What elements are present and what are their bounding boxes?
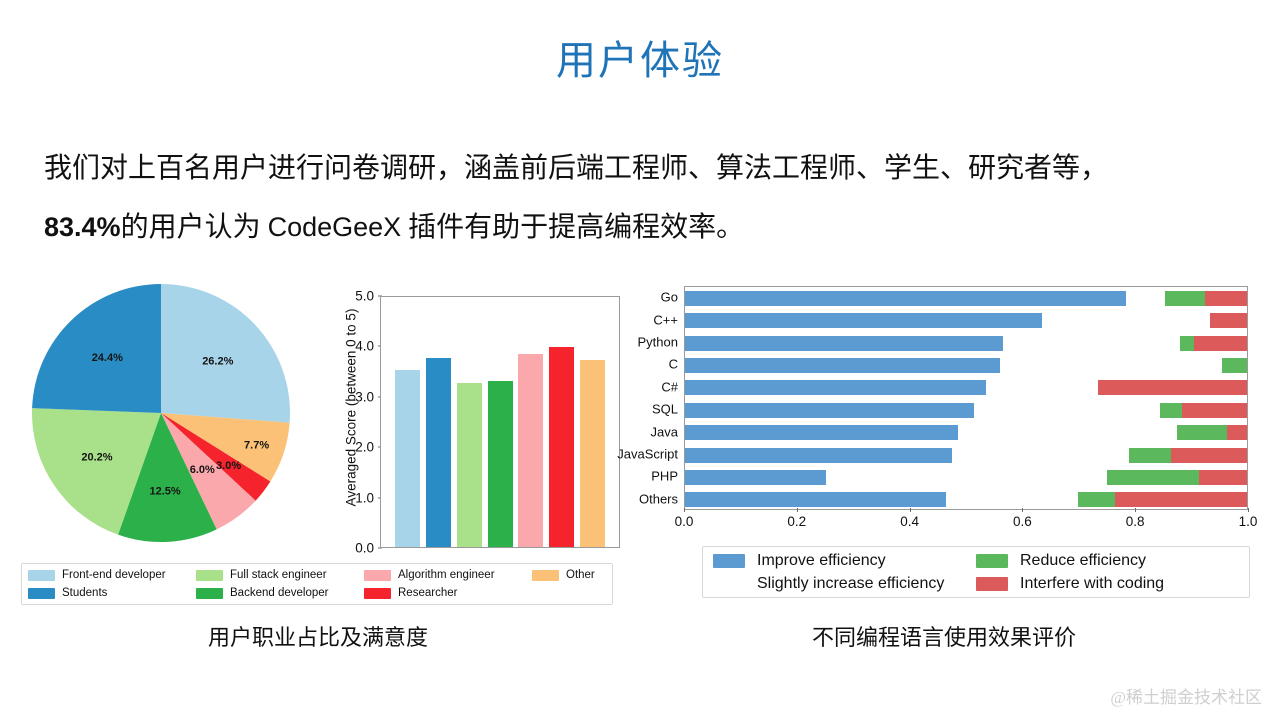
stacked-bar-segment — [685, 313, 1042, 328]
body-line-1: 我们对上百名用户进行问卷调研，涵盖前后端工程师、算法工程师、学生、研究者等， — [44, 153, 1108, 184]
legend-item: Researcher — [364, 587, 532, 599]
caption-right: 不同编程语言使用效果评价 — [744, 620, 1144, 652]
y-axis-tick-label: 2.0 — [355, 440, 374, 455]
stacked-bar-segment — [685, 380, 986, 395]
y-axis-tick-label: 3.0 — [355, 389, 374, 404]
bar — [580, 360, 605, 548]
stacked-bar-segment — [1042, 313, 1211, 328]
legend-swatch-icon — [976, 577, 1008, 591]
x-axis-tick-label: 0.2 — [787, 514, 806, 529]
stacked-bar-segment — [1171, 448, 1247, 463]
stacked-bar-segment — [1180, 336, 1194, 351]
stacked-bar-segment — [974, 403, 1159, 418]
stacked-bar-segment — [1165, 291, 1204, 306]
legend-label: Interfere with coding — [1020, 575, 1164, 593]
body-highlight-percent: 83.4% — [44, 212, 121, 242]
bar — [488, 381, 513, 547]
bar — [549, 347, 574, 547]
stacked-bar-segment — [1078, 492, 1115, 507]
y-axis-tick-label: 4.0 — [355, 339, 374, 354]
legend-label: Students — [62, 587, 107, 599]
y-axis-tick-label: 0.0 — [355, 541, 374, 556]
stacked-bar-segment — [1177, 425, 1228, 440]
bar — [457, 383, 482, 547]
legend-item: Other — [532, 569, 606, 581]
pie-slice-value: 12.5% — [149, 485, 180, 497]
x-axis-tick-label: 0.0 — [675, 514, 694, 529]
stacked-bar-segment — [1182, 403, 1247, 418]
x-axis-tick-mark — [797, 508, 798, 512]
legend-item: Improve efficiency — [713, 552, 976, 570]
category-label: Go — [661, 290, 678, 305]
pie-slice-value: 7.7% — [244, 439, 269, 451]
legend-label: Full stack engineer — [230, 569, 327, 581]
stacked-bar-row — [685, 492, 1247, 507]
stacked-bar-segment — [685, 358, 1000, 373]
stacked-bar-segment — [685, 291, 1126, 306]
legend-swatch-icon — [28, 588, 55, 599]
category-label: JavaScript — [617, 447, 678, 462]
legend-item: Students — [28, 587, 196, 599]
body-line-2-a: 的用户认为 — [121, 212, 268, 243]
stacked-bar-segment — [1205, 291, 1247, 306]
category-label: C# — [661, 379, 678, 394]
caption-left: 用户职业占比及满意度 — [118, 620, 518, 652]
legend-item: Algorithm engineer — [364, 569, 532, 581]
stacked-bar-segment — [958, 425, 1177, 440]
legend-swatch-icon — [196, 570, 223, 581]
x-axis-tick-mark — [1022, 508, 1023, 512]
stacked-bar-segment — [1210, 313, 1247, 328]
pie-chart-legend: Front-end developerStudentsFull stack en… — [21, 563, 613, 605]
pie-slice-value: 6.0% — [190, 464, 215, 476]
bar-chart-y-ticks: 0.01.02.03.04.05.0 — [342, 296, 378, 548]
page-title: 用户体验 — [0, 28, 1280, 86]
x-axis-tick-label: 0.8 — [1126, 514, 1145, 529]
x-axis-tick-mark — [684, 508, 685, 512]
legend-item: Slightly increase efficiency — [713, 575, 976, 593]
stacked-bar-segment — [1222, 358, 1247, 373]
legend-swatch-icon — [196, 588, 223, 599]
stacked-bar-y-axis-labels: GoC++PythonCC#SQLJavaJavaScriptPHPOthers — [620, 286, 678, 510]
legend-swatch-icon — [28, 570, 55, 581]
stacked-bar-segment — [1003, 336, 1180, 351]
legend-label: Backend developer — [230, 587, 328, 599]
pie-chart-svg: 26.2%7.7%3.0%6.0%12.5%20.2%24.4% — [30, 282, 292, 544]
bar-chart-plot-area — [380, 296, 620, 548]
pie-slice-value: 26.2% — [202, 355, 233, 367]
legend-swatch-icon — [976, 554, 1008, 568]
stacked-bar-segment — [986, 380, 1098, 395]
legend-label: Improve efficiency — [757, 552, 886, 570]
legend-swatch-icon — [364, 570, 391, 581]
y-axis-tick-label: 5.0 — [355, 289, 374, 304]
legend-swatch-icon — [713, 554, 745, 568]
pie-slice — [161, 284, 290, 423]
stacked-bar-segment — [685, 336, 1003, 351]
stacked-bar-row — [685, 448, 1247, 463]
stacked-bar-segment — [946, 492, 1078, 507]
x-axis-tick-label: 1.0 — [1239, 514, 1258, 529]
x-axis-tick-label: 0.6 — [1013, 514, 1032, 529]
legend-label: Researcher — [398, 587, 457, 599]
legend-label: Slightly increase efficiency — [757, 575, 944, 593]
stacked-bar-segment — [1126, 291, 1165, 306]
stacked-bar-row — [685, 358, 1247, 373]
x-axis-tick-label: 0.4 — [900, 514, 919, 529]
stacked-bar-row — [685, 403, 1247, 418]
product-name: CodeGeeX — [268, 212, 402, 242]
legend-swatch-icon — [364, 588, 391, 599]
legend-label: Front-end developer — [62, 569, 166, 581]
bar — [426, 358, 451, 547]
stacked-bar-row — [685, 425, 1247, 440]
stacked-bar-segment — [1115, 492, 1247, 507]
left-figure: 26.2%7.7%3.0%6.0%12.5%20.2%24.4% Average… — [18, 278, 618, 608]
legend-item: Full stack engineer — [196, 569, 364, 581]
stacked-bar-segment — [685, 425, 958, 440]
x-axis-tick-mark — [1135, 508, 1136, 512]
pie-slice-value: 20.2% — [81, 452, 112, 464]
stacked-bar-legend: Improve efficiencySlightly increase effi… — [702, 546, 1250, 598]
stacked-bar-segment — [952, 448, 1129, 463]
category-label: SQL — [652, 402, 678, 417]
body-line-2-c: 插件有助于提高编程效率。 — [401, 212, 744, 243]
stacked-bar-row — [685, 380, 1247, 395]
legend-swatch-icon — [532, 570, 559, 581]
category-label: PHP — [651, 469, 678, 484]
stacked-bar-row — [685, 470, 1247, 485]
legend-item: Front-end developer — [28, 569, 196, 581]
x-axis-tick-mark — [1248, 508, 1249, 512]
stacked-bar-x-axis: 0.00.20.40.60.81.0 — [684, 512, 1248, 534]
legend-item: Reduce efficiency — [976, 552, 1239, 570]
stacked-bar-row — [685, 336, 1247, 351]
stacked-bar-segment — [1194, 336, 1247, 351]
watermark: @稀土掘金技术社区 — [1110, 683, 1262, 708]
stacked-bar-segment — [685, 492, 946, 507]
bar — [395, 370, 420, 547]
legend-label: Reduce efficiency — [1020, 552, 1146, 570]
bar — [518, 354, 543, 547]
legend-label: Algorithm engineer — [398, 569, 495, 581]
legend-label: Other — [566, 569, 595, 581]
legend-item: Backend developer — [196, 587, 364, 599]
legend-item: Interfere with coding — [976, 575, 1239, 593]
stacked-bar-segment — [685, 470, 826, 485]
stacked-bar-segment — [1098, 380, 1247, 395]
x-axis-tick-mark — [910, 508, 911, 512]
pie-slices — [32, 284, 290, 542]
category-label: C — [669, 357, 678, 372]
satisfaction-bar-chart: Averaged Score (between 0 to 5) 0.01.02.… — [318, 290, 625, 556]
stacked-bar-segment — [826, 470, 1107, 485]
stacked-bar-segment — [1000, 358, 1222, 373]
stacked-bar-segment — [1107, 470, 1200, 485]
stacked-bar-segment — [1227, 425, 1247, 440]
pie-slice-value: 3.0% — [216, 460, 241, 472]
pie-chart: 26.2%7.7%3.0%6.0%12.5%20.2%24.4% — [30, 282, 292, 544]
category-label: Java — [651, 424, 678, 439]
stacked-bar-segment — [1199, 470, 1247, 485]
pie-slice-value: 24.4% — [92, 352, 123, 364]
stacked-bar-row — [685, 313, 1247, 328]
category-label: Others — [639, 491, 678, 506]
stacked-bar-segment — [685, 448, 952, 463]
pie-slice — [32, 284, 161, 413]
legend-swatch-icon — [713, 577, 745, 591]
right-figure: GoC++PythonCC#SQLJavaJavaScriptPHPOthers… — [620, 278, 1268, 608]
stacked-bar-segment — [685, 403, 974, 418]
stacked-bar-plot-area — [684, 286, 1248, 510]
stacked-bar-segment — [1129, 448, 1171, 463]
stacked-bar-segment — [1160, 403, 1182, 418]
stacked-bar-row — [685, 291, 1247, 306]
category-label: Python — [638, 335, 678, 350]
y-axis-tick-label: 1.0 — [355, 490, 374, 505]
category-label: C++ — [653, 312, 678, 327]
body-paragraph: 我们对上百名用户进行问卷调研，涵盖前后端工程师、算法工程师、学生、研究者等， 8… — [44, 140, 1249, 257]
bar-series — [381, 297, 619, 547]
